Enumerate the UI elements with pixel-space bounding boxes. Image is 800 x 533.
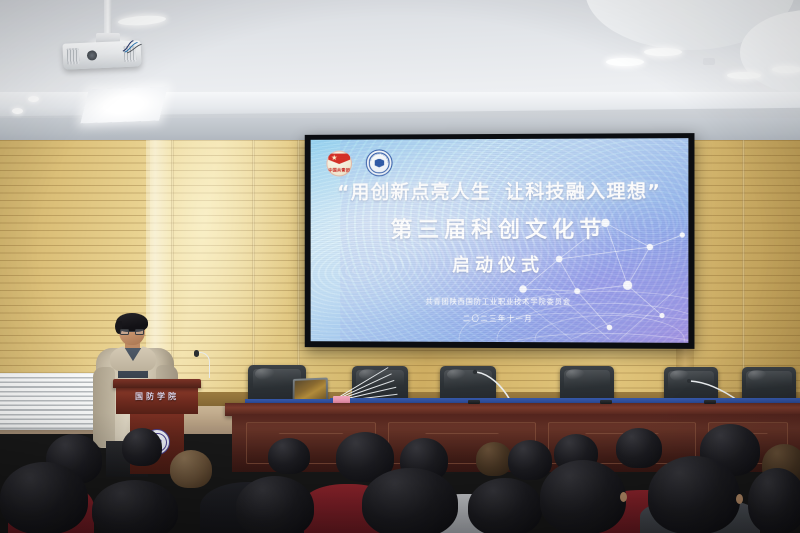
flag-shape-icon bbox=[328, 153, 350, 164]
wall-panel-seam bbox=[252, 140, 255, 400]
audience-head bbox=[616, 428, 662, 468]
screen-slogan-part2: 让科技融入理想” bbox=[505, 181, 661, 203]
chair-highlight bbox=[566, 369, 584, 380]
podium-name-plate: 国防学院 bbox=[113, 391, 201, 402]
glasses-lens bbox=[120, 329, 129, 335]
projector-cables bbox=[121, 37, 144, 54]
screen-slogan-part1: “用创新点亮人生 bbox=[337, 181, 491, 203]
ceiling-projector bbox=[62, 40, 141, 69]
conference-hall-photo: 中国共青团 SHAANXI DEFENCE VOC TECH “用创新点亮人生让… bbox=[0, 0, 800, 533]
audience-head bbox=[508, 440, 552, 480]
wall-panel-seam bbox=[297, 140, 300, 400]
ceiling-light bbox=[606, 58, 644, 66]
led-display-screen: 中国共青团 SHAANXI DEFENCE VOC TECH “用创新点亮人生让… bbox=[311, 138, 689, 343]
ceiling-downlight bbox=[12, 108, 23, 114]
screen-title-block: “用创新点亮人生让科技融入理想” 第三届科创文化节 启动仪式 bbox=[311, 183, 689, 278]
microphone-base bbox=[600, 400, 612, 404]
audience-area bbox=[0, 420, 800, 533]
podium-microphone bbox=[196, 352, 212, 382]
wall-panel-seam bbox=[742, 140, 745, 400]
audience-head bbox=[362, 468, 458, 533]
emblem-arc-text: SHAANXI DEFENCE VOC TECH bbox=[367, 150, 392, 175]
smoke-detector-icon bbox=[703, 58, 715, 65]
ceiling-panel-light bbox=[80, 87, 167, 124]
communist-youth-league-emblem: 中国共青团 bbox=[326, 150, 352, 176]
glasses-lens bbox=[135, 329, 144, 335]
audience-head bbox=[268, 438, 310, 474]
screen-date: 二〇二三年十一月 bbox=[311, 313, 689, 324]
laptop-screen bbox=[294, 380, 326, 402]
audience-head bbox=[236, 476, 314, 533]
podium-top bbox=[113, 379, 201, 388]
audience-head bbox=[122, 428, 162, 466]
svg-text:SHAANXI DEFENCE VOC TECH: SHAANXI DEFENCE VOC TECH bbox=[367, 150, 391, 163]
chair-highlight bbox=[255, 368, 275, 380]
screen-event-subtitle: 启动仪式 bbox=[311, 251, 689, 277]
ceiling-light bbox=[644, 48, 682, 56]
glasses-icon bbox=[120, 329, 144, 335]
led-display-bezel: 中国共青团 SHAANXI DEFENCE VOC TECH “用创新点亮人生让… bbox=[305, 133, 695, 349]
ceiling-light bbox=[727, 72, 761, 79]
audience-head bbox=[748, 468, 800, 533]
chair-highlight bbox=[447, 369, 466, 380]
ceiling-light bbox=[118, 14, 167, 26]
ceiling-light bbox=[772, 66, 800, 73]
screen-logo-group: 中国共青团 SHAANXI DEFENCE VOC TECH bbox=[326, 149, 392, 176]
audience-ear bbox=[620, 492, 627, 502]
screen-slogan: “用创新点亮人生让科技融入理想” bbox=[311, 183, 689, 204]
audience-head bbox=[0, 462, 88, 533]
audience-head bbox=[92, 480, 178, 533]
logo-left-caption: 中国共青团 bbox=[326, 167, 352, 173]
screen-event-title: 第三届科创文化节 bbox=[311, 212, 689, 244]
audience-head bbox=[648, 456, 740, 533]
school-emblem: SHAANXI DEFENCE VOC TECH bbox=[366, 149, 393, 176]
microphone-base bbox=[704, 400, 716, 404]
projector-vent bbox=[67, 48, 80, 65]
audience-ear bbox=[736, 494, 743, 504]
screen-organizer: 共青团陕西国防工业职业技术学院委员会 bbox=[311, 297, 689, 308]
audience-head bbox=[468, 478, 542, 533]
audience-head bbox=[476, 442, 512, 476]
ceiling-downlight bbox=[28, 96, 39, 102]
microphone-base bbox=[468, 400, 480, 404]
audience-head bbox=[170, 450, 212, 488]
audience-head bbox=[540, 460, 626, 533]
projector-lens-icon bbox=[87, 50, 97, 60]
microphone-capsule bbox=[194, 350, 199, 357]
